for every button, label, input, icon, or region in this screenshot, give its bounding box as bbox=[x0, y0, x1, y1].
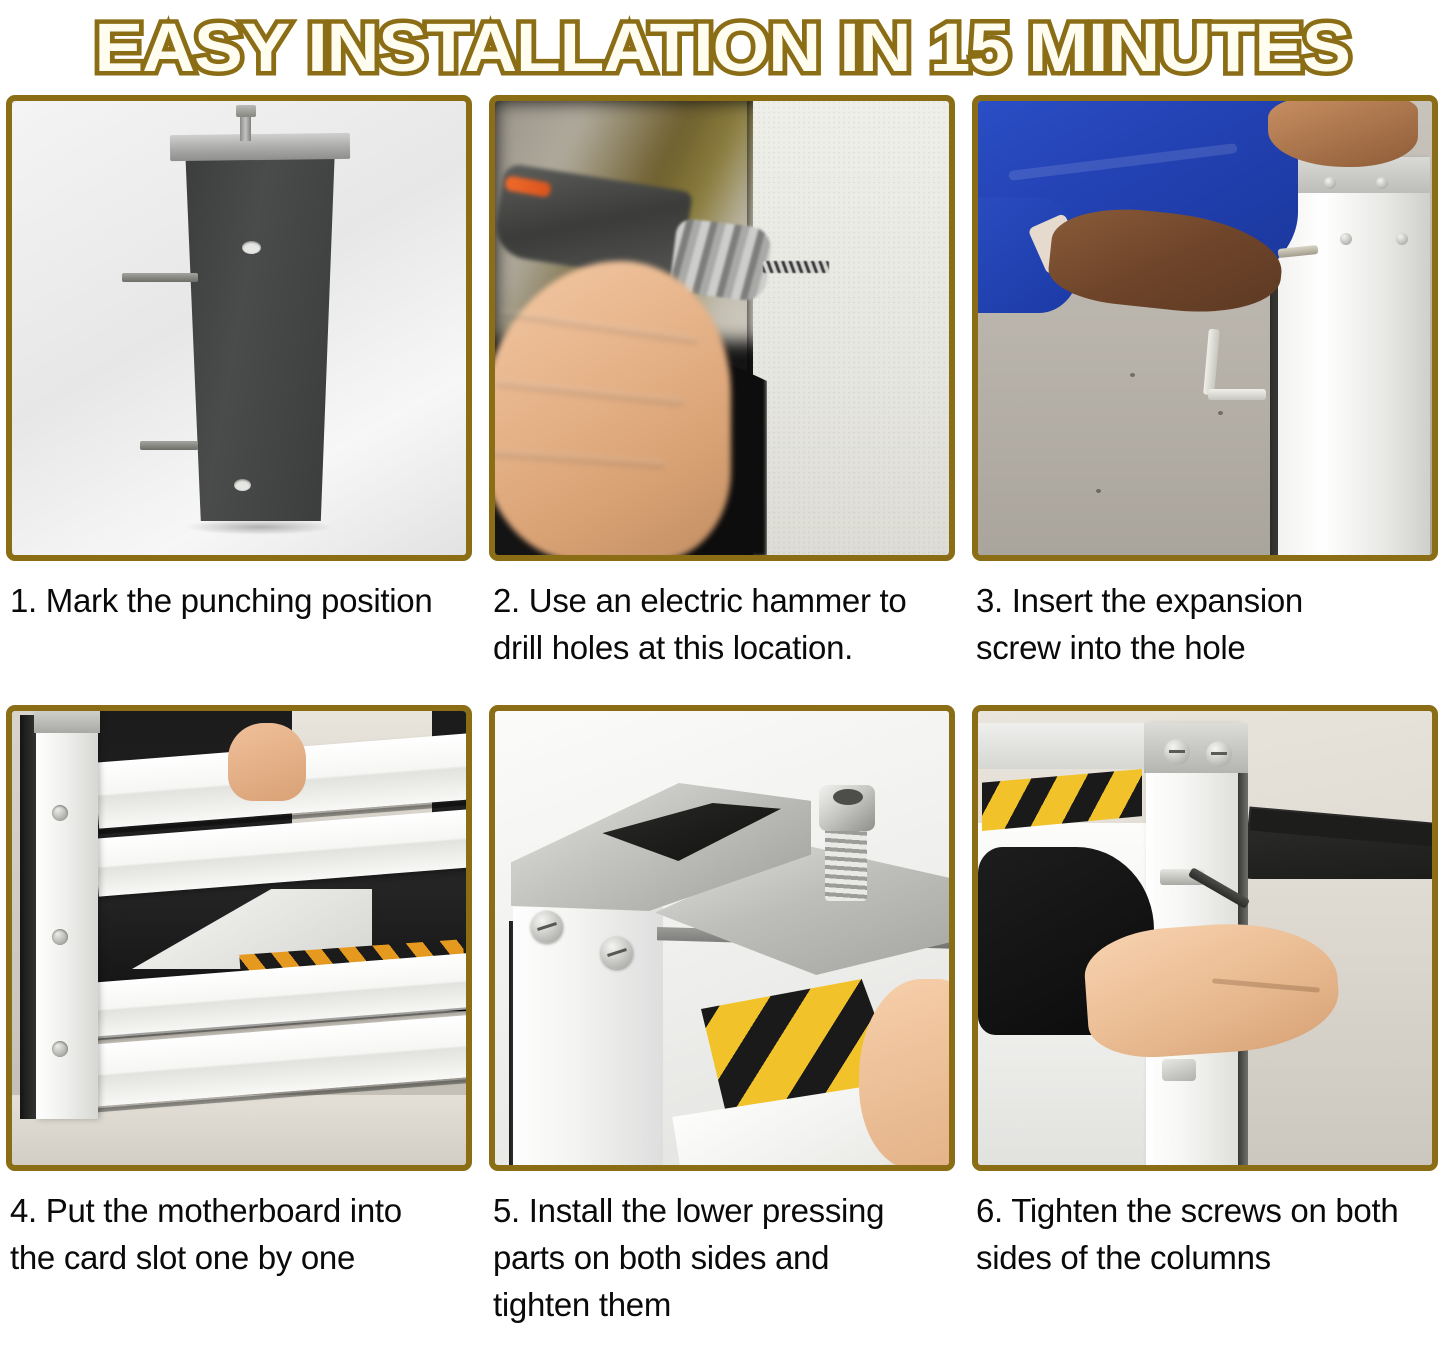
step-photo-5 bbox=[495, 711, 949, 1165]
plate-shadow bbox=[184, 519, 334, 535]
floor-debris-1 bbox=[1130, 373, 1135, 377]
phillips-screw-1 bbox=[531, 911, 563, 943]
phillips-screw-2 bbox=[601, 937, 633, 969]
hex-bolt-shaft bbox=[825, 821, 867, 901]
step-photo-frame-2 bbox=[489, 95, 955, 561]
step-photo-frame-4 bbox=[6, 705, 472, 1171]
textured-wall bbox=[753, 101, 949, 555]
step-card-2: 2. Use an electric hammer to drill holes… bbox=[483, 95, 961, 705]
step-photo-3 bbox=[978, 101, 1432, 555]
step-card-6: 6. Tighten the screws on both sides of t… bbox=[966, 705, 1444, 1327]
plate-top-cap bbox=[170, 133, 350, 161]
side-stud-upper bbox=[122, 273, 198, 282]
step-caption-1: 1. Mark the punching position bbox=[0, 561, 478, 705]
step-card-1: 1. Mark the punching position bbox=[0, 95, 478, 705]
step-caption-2: 2. Use an electric hammer to drill holes… bbox=[483, 561, 961, 705]
phillips-screw-2 bbox=[1206, 741, 1232, 767]
slot-post-icon bbox=[36, 715, 98, 1119]
step-photo-2 bbox=[495, 101, 949, 555]
drill-bit-icon bbox=[763, 261, 829, 273]
step-photo-6 bbox=[978, 711, 1432, 1165]
phillips-screw-1 bbox=[1164, 739, 1190, 765]
white-column-icon bbox=[513, 907, 663, 1165]
step-caption-6: 6. Tighten the screws on both sides of t… bbox=[966, 1171, 1444, 1327]
step-caption-3: 3. Insert the expansion screw into the h… bbox=[966, 561, 1444, 705]
expansion-screw-3 bbox=[1340, 233, 1352, 245]
panel-top-strip bbox=[978, 723, 1168, 769]
step-photo-4 bbox=[12, 711, 466, 1165]
top-bolt-head bbox=[236, 105, 256, 117]
expansion-screw-1 bbox=[1324, 177, 1336, 189]
base-plate-icon bbox=[180, 141, 340, 521]
hand-icon bbox=[495, 261, 731, 555]
allen-key-horizontal-arm bbox=[1208, 389, 1266, 400]
step-card-3: 3. Insert the expansion screw into the h… bbox=[966, 95, 1444, 705]
step-photo-frame-3 bbox=[972, 95, 1438, 561]
page-title: EASY INSTALLATION IN 15 MINUTES bbox=[91, 12, 1355, 84]
installation-steps-grid: 1. Mark the punching position 2. Use an … bbox=[0, 95, 1445, 1327]
step-photo-frame-5 bbox=[489, 705, 955, 1171]
side-stud-lower bbox=[140, 441, 198, 450]
mounting-hole-upper bbox=[242, 241, 261, 254]
expansion-screw-2 bbox=[1376, 177, 1388, 189]
step-photo-frame-1 bbox=[6, 95, 472, 561]
step-card-5: 5. Install the lower pressing parts on b… bbox=[483, 705, 961, 1327]
card-slot-hole-1 bbox=[52, 805, 68, 821]
step-photo-frame-6 bbox=[972, 705, 1438, 1171]
step-caption-5: 5. Install the lower pressing parts on b… bbox=[483, 1171, 961, 1327]
step-caption-4: 4. Put the motherboard into the card slo… bbox=[0, 1171, 478, 1327]
hex-bolt-socket bbox=[833, 789, 863, 805]
title-banner: EASY INSTALLATION IN 15 MINUTES bbox=[0, 0, 1445, 95]
post-top-cap bbox=[34, 711, 100, 733]
floor-debris-2 bbox=[1218, 411, 1223, 415]
column-top-cap bbox=[1144, 723, 1248, 773]
card-slot-hole-2 bbox=[52, 929, 68, 945]
step-card-4: 4. Put the motherboard into the card slo… bbox=[0, 705, 478, 1327]
white-column-icon bbox=[1278, 159, 1430, 555]
lower-mounting-lug bbox=[1162, 1059, 1196, 1081]
mounting-hole-lower bbox=[234, 479, 251, 491]
floor-debris-3 bbox=[1096, 489, 1101, 493]
hand-icon bbox=[228, 723, 306, 801]
step-photo-1 bbox=[12, 101, 466, 555]
card-slot-hole-3 bbox=[52, 1041, 68, 1057]
expansion-screw-4 bbox=[1396, 233, 1408, 245]
